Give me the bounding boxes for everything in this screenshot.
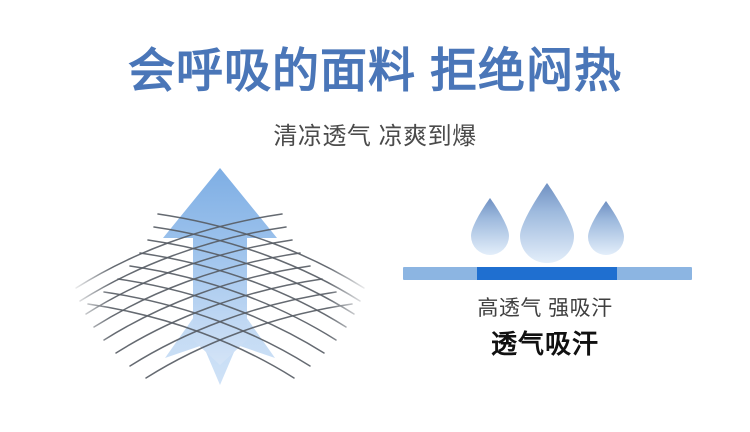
breathable-mesh-arrow-graphic <box>70 160 370 385</box>
water-droplets-bar-graphic <box>395 182 700 292</box>
poster-root: 会呼吸的面料 拒绝闷热 清凉透气 凉爽到爆 <box>0 0 750 432</box>
water-drop-right <box>588 201 624 255</box>
water-drop-left <box>471 198 509 255</box>
water-drop-center <box>520 183 574 263</box>
fabric-bar-active-segment <box>477 267 617 280</box>
page-title: 会呼吸的面料 拒绝闷热 <box>0 44 750 98</box>
right-caption-light: 高透气 强吸汗 <box>400 296 690 322</box>
right-caption-bold: 透气吸汗 <box>400 328 690 360</box>
page-subtitle: 清凉透气 凉爽到爆 <box>0 122 750 152</box>
